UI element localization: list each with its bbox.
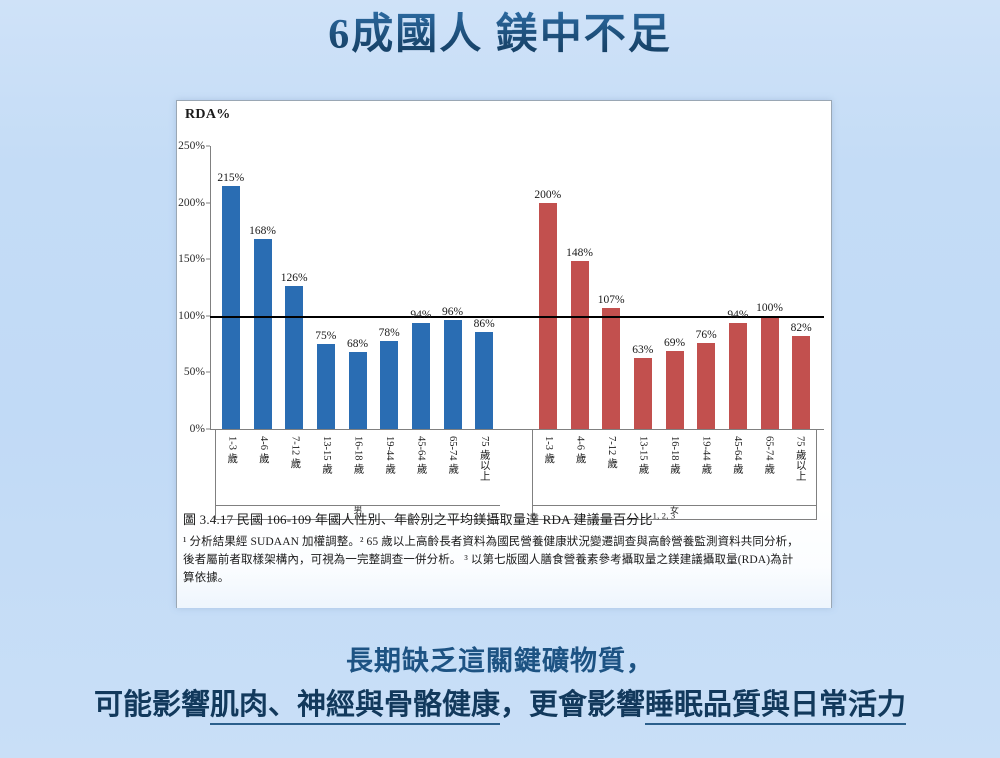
bar[interactable]: 69% — [666, 351, 684, 429]
caption-note-line: 算依據。 — [183, 570, 883, 588]
category-axis-cell: 65-74 歲 — [437, 430, 469, 505]
caption-main-text: 圖 3.4.17 民國 106-109 年國人性別、年齡別之平均鎂攝取量達 RD… — [183, 512, 653, 527]
bar[interactable]: 82% — [792, 336, 810, 429]
bar-slot: 78% — [373, 146, 405, 429]
bar-slot: 107% — [595, 146, 627, 429]
bar-slot: 86% — [468, 146, 500, 429]
category-axis-cell: 13-15 歲 — [627, 430, 658, 505]
bar-value-label: 82% — [791, 322, 812, 334]
category-axis-cell: 19-44 歲 — [374, 430, 406, 505]
bar-value-label: 126% — [281, 272, 308, 284]
bar-slot: 75% — [310, 146, 342, 429]
category-axis-cell: 19-44 歲 — [690, 430, 721, 505]
bar-value-label: 94% — [410, 309, 431, 321]
category-axis-cell: 16-18 歲 — [342, 430, 374, 505]
caption-note-line: 後者屬前者取樣架構內，可視為一完整調查一併分析。 ³ 以第七版國人膳食營養素參考… — [183, 552, 883, 570]
y-axis-tick-mark — [206, 429, 210, 430]
caption-main-superscript: 1, 2, 3 — [653, 511, 676, 521]
bar[interactable]: 215% — [222, 186, 240, 429]
plot-area: 0%50%100%150%200%250% 215%168%126%75%68%… — [210, 146, 824, 429]
bar-value-label: 168% — [249, 225, 276, 237]
category-axis-label: 7-12 歲 — [287, 436, 302, 468]
bar[interactable]: 86% — [475, 332, 493, 429]
bar-slot: 68% — [342, 146, 374, 429]
category-axis-label: 45-64 歲 — [730, 436, 745, 474]
category-axis-label: 65-74 歲 — [445, 436, 460, 474]
category-axis-cell: 45-64 歲 — [405, 430, 437, 505]
bar-slot: 76% — [690, 146, 722, 429]
bar-slot: 63% — [627, 146, 659, 429]
bar-value-label: 69% — [664, 337, 685, 349]
bar-value-label: 76% — [696, 329, 717, 341]
page-title-container: 6成國人 鎂中不足 — [0, 6, 1000, 72]
bar-group-female: 200%148%107%63%69%76%94%100%82% — [532, 146, 817, 429]
category-axis-label: 7-12 歲 — [604, 436, 619, 468]
y-axis-tick-mark — [206, 259, 210, 260]
footer-line-1: 長期缺乏這關鍵礦物質， — [0, 640, 1000, 682]
bar-value-label: 78% — [379, 327, 400, 339]
category-axis-label: 19-44 歲 — [382, 436, 397, 474]
bar-slot: 94% — [722, 146, 754, 429]
bar[interactable]: 148% — [571, 261, 589, 429]
category-axis-cell: 4-6 歲 — [248, 430, 280, 505]
bar-slot: 69% — [659, 146, 691, 429]
category-axis-male: 1-3 歲4-6 歲7-12 歲13-15 歲16-18 歲19-44 歲45-… — [215, 430, 500, 506]
bar-value-label: 200% — [534, 189, 561, 201]
footer-line-2-part-c: ，更會影響 — [500, 689, 645, 721]
bar[interactable]: 63% — [634, 358, 652, 429]
report-panel: RDA% 0%50%100%150%200%250% 215%168%126%7… — [176, 100, 832, 608]
bar-slot: 82% — [785, 146, 817, 429]
bar[interactable]: 96% — [444, 320, 462, 429]
bar[interactable]: 168% — [254, 239, 272, 429]
footer-line-2: 可能影響肌肉、神經與骨骼健康，更會影響睡眠品質與日常活力 — [0, 682, 1000, 728]
figure-caption: 圖 3.4.17 民國 106-109 年國人性別、年齡別之平均鎂攝取量達 RD… — [183, 509, 883, 587]
bar-value-label: 75% — [315, 330, 336, 342]
bar[interactable]: 76% — [697, 343, 715, 429]
y-axis-tick-mark — [206, 202, 210, 203]
bar-group-male: 215%168%126%75%68%78%94%96%86% — [215, 146, 500, 429]
chart: RDA% 0%50%100%150%200%250% 215%168%126%7… — [177, 101, 833, 501]
bar-value-label: 215% — [217, 172, 244, 184]
category-axis-cell: 16-18 歲 — [659, 430, 690, 505]
bar-slot: 126% — [278, 146, 310, 429]
bar-value-label: 100% — [756, 302, 783, 314]
bar-slot: 168% — [247, 146, 279, 429]
y-axis-tick-mark — [206, 372, 210, 373]
y-axis-tick-mark — [206, 146, 210, 147]
category-axis-cell: 75 歲以上 — [785, 430, 816, 505]
footer-line-2-emphasis-2: 睡眠品質與日常活力 — [645, 689, 906, 725]
caption-note-line: ¹ 分析結果經 SUDAAN 加權調整。² 65 歲以上高齡長者資料為國民營養健… — [183, 534, 883, 552]
caption-main: 圖 3.4.17 民國 106-109 年國人性別、年齡別之平均鎂攝取量達 RD… — [183, 509, 883, 528]
bar[interactable]: 126% — [285, 286, 303, 429]
category-axis-cell: 7-12 歲 — [596, 430, 627, 505]
category-axis-cell: 75 歲以上 — [469, 430, 501, 505]
category-axis-label: 13-15 歲 — [636, 436, 651, 474]
bar[interactable]: 94% — [412, 323, 430, 429]
category-axis-label: 65-74 歲 — [761, 436, 776, 474]
page-title: 6成國人 鎂中不足 — [328, 6, 672, 64]
bar-value-label: 96% — [442, 306, 463, 318]
category-axis-label: 75 歲以上 — [793, 436, 808, 481]
category-axis-label: 16-18 歲 — [351, 436, 366, 474]
category-axis-label: 1-3 歲 — [224, 436, 239, 463]
category-axis-cell: 7-12 歲 — [279, 430, 311, 505]
bar[interactable]: 100% — [761, 316, 779, 429]
category-axis-cell: 65-74 歲 — [753, 430, 784, 505]
bar-value-label: 94% — [727, 309, 748, 321]
bar-slot: 96% — [437, 146, 469, 429]
category-axis-label: 16-18 歲 — [667, 436, 682, 474]
category-axis-label: 45-64 歲 — [414, 436, 429, 474]
category-axis-label: 75 歲以上 — [477, 436, 492, 481]
category-axis-cell: 45-64 歲 — [722, 430, 753, 505]
bar-slot: 200% — [532, 146, 564, 429]
footer-line-2-emphasis-1: 肌肉、神經與骨骼健康 — [210, 689, 500, 725]
category-axis-label: 4-6 歲 — [573, 436, 588, 463]
bar[interactable]: 107% — [602, 308, 620, 429]
bar[interactable]: 68% — [349, 352, 367, 429]
bar-value-label: 63% — [632, 344, 653, 356]
bar-value-label: 148% — [566, 247, 593, 259]
footer-copy: 長期缺乏這關鍵礦物質， 可能影響肌肉、神經與骨骼健康，更會影響睡眠品質與日常活力 — [0, 640, 1000, 728]
category-axis-label: 4-6 歲 — [256, 436, 271, 463]
bar-slot: 94% — [405, 146, 437, 429]
category-axis-cell: 1-3 歲 — [533, 430, 564, 505]
bar[interactable]: 94% — [729, 323, 747, 429]
category-axis-label: 13-15 歲 — [319, 436, 334, 474]
bar-slot: 148% — [564, 146, 596, 429]
category-axis-label: 1-3 歲 — [541, 436, 556, 463]
bar-slot: 100% — [754, 146, 786, 429]
bar[interactable]: 75% — [317, 344, 335, 429]
category-axis-cell: 13-15 歲 — [311, 430, 343, 505]
y-axis-title: RDA% — [185, 107, 231, 123]
category-axis-cell: 1-3 歲 — [216, 430, 248, 505]
category-axis-female: 1-3 歲4-6 歲7-12 歲13-15 歲16-18 歲19-44 歲45-… — [532, 430, 817, 506]
footer-line-2-part-a: 可能影響 — [94, 689, 210, 721]
bar-value-label: 107% — [598, 294, 625, 306]
bar-value-label: 86% — [474, 318, 495, 330]
category-axis-cell: 4-6 歲 — [564, 430, 595, 505]
category-axis-label: 19-44 歲 — [698, 436, 713, 474]
bar-slot: 215% — [215, 146, 247, 429]
bar-value-label: 68% — [347, 338, 368, 350]
bar[interactable]: 78% — [380, 341, 398, 429]
caption-notes: ¹ 分析結果經 SUDAAN 加權調整。² 65 歲以上高齡長者資料為國民營養健… — [183, 534, 883, 587]
